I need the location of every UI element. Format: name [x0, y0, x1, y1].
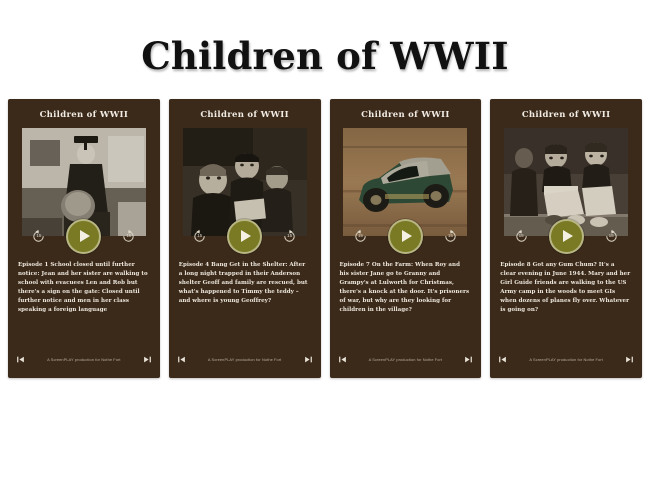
skip-forward-label: 15: [443, 229, 458, 244]
play-button[interactable]: [66, 219, 101, 254]
play-button[interactable]: [227, 219, 262, 254]
card-media: 15 15: [504, 128, 628, 236]
production-credit: A ScreenPLAY production for Nothe Fort: [25, 357, 143, 362]
episode-card-list: Children of WWII: [8, 99, 642, 379]
skip-back-15-icon[interactable]: 15: [514, 229, 529, 244]
card-media: 15 15: [343, 128, 467, 236]
skip-back-label: 15: [192, 229, 207, 244]
skip-back-15-icon[interactable]: 15: [353, 229, 368, 244]
play-icon: [241, 230, 251, 242]
production-credit: A ScreenPLAY production for Nothe Fort: [186, 357, 304, 362]
skip-back-15-icon[interactable]: 15: [31, 229, 46, 244]
episode-card[interactable]: Children of WWII: [169, 99, 321, 378]
next-track-icon[interactable]: [304, 355, 313, 364]
next-track-icon[interactable]: [464, 355, 473, 364]
page-title: Children of WWII: [0, 34, 650, 78]
skip-forward-15-icon[interactable]: 15: [604, 229, 619, 244]
next-track-icon[interactable]: [625, 355, 634, 364]
card-footer: A ScreenPLAY production for Nothe Fort: [330, 348, 482, 378]
previous-track-icon[interactable]: [177, 355, 186, 364]
card-title: Children of WWII: [8, 110, 160, 120]
episode-card[interactable]: Children of WWII: [330, 99, 482, 378]
card-footer: A ScreenPLAY production for Nothe Fort: [169, 348, 321, 378]
card-title: Children of WWII: [330, 110, 482, 120]
previous-track-icon[interactable]: [498, 355, 507, 364]
play-icon: [402, 230, 412, 242]
skip-forward-label: 15: [282, 229, 297, 244]
skip-back-15-icon[interactable]: 15: [192, 229, 207, 244]
card-footer: A ScreenPLAY production for Nothe Fort: [8, 348, 160, 378]
play-button[interactable]: [549, 219, 584, 254]
skip-forward-label: 15: [604, 229, 619, 244]
card-title: Children of WWII: [490, 110, 642, 120]
previous-track-icon[interactable]: [338, 355, 347, 364]
skip-back-label: 15: [353, 229, 368, 244]
skip-forward-label: 15: [121, 229, 136, 244]
episode-card[interactable]: Children of WWII: [490, 99, 642, 378]
previous-track-icon[interactable]: [16, 355, 25, 364]
skip-back-label: 15: [514, 229, 529, 244]
page-root: Children of WWII Children of WWII: [0, 0, 650, 488]
play-button[interactable]: [388, 219, 423, 254]
play-icon: [563, 230, 573, 242]
card-title: Children of WWII: [169, 110, 321, 120]
production-credit: A ScreenPLAY production for Nothe Fort: [507, 357, 625, 362]
card-footer: A ScreenPLAY production for Nothe Fort: [490, 348, 642, 378]
card-media: 15 15: [22, 128, 146, 236]
skip-forward-15-icon[interactable]: 15: [121, 229, 136, 244]
episode-card[interactable]: Children of WWII: [8, 99, 160, 378]
skip-forward-15-icon[interactable]: 15: [443, 229, 458, 244]
production-credit: A ScreenPLAY production for Nothe Fort: [347, 357, 465, 362]
card-media: 15 15: [183, 128, 307, 236]
play-icon: [80, 230, 90, 242]
next-track-icon[interactable]: [143, 355, 152, 364]
skip-back-label: 15: [31, 229, 46, 244]
skip-forward-15-icon[interactable]: 15: [282, 229, 297, 244]
